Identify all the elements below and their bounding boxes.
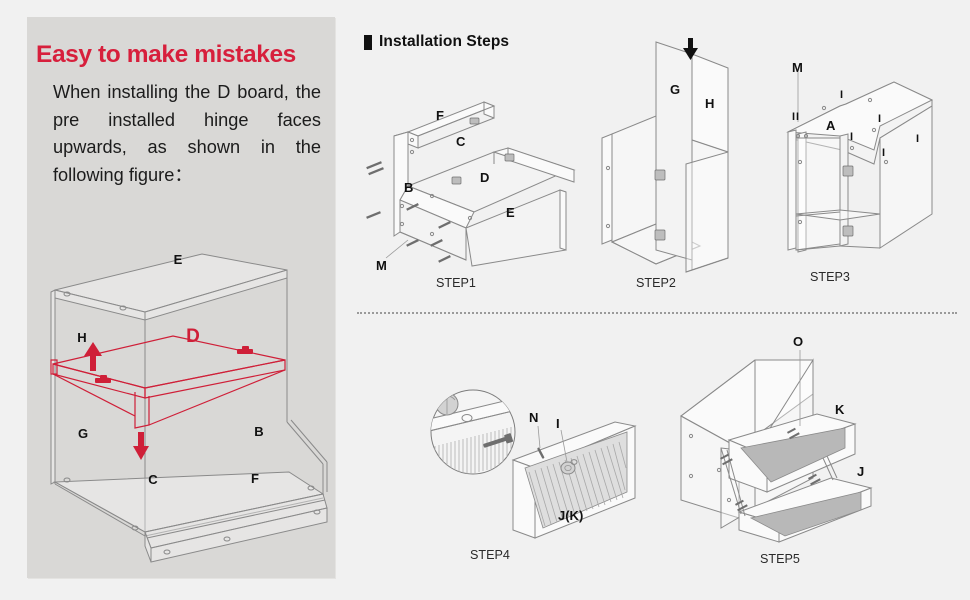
part-label-B: B [254,424,263,439]
mistake-diagram: E H D G B C F [27,232,335,578]
step1-caption: STEP1 [436,276,476,290]
step2-figure: G H [600,28,780,278]
step4-caption: STEP4 [470,548,510,562]
step5-caption: STEP5 [760,552,800,566]
part-label-I: I [882,147,885,159]
part-label-O: O [793,334,803,349]
part-label-F: F [436,108,444,123]
part-label-G: G [670,82,680,97]
part-label-I: I [796,111,799,123]
part-label-G: G [78,426,88,441]
part-label-I: I [840,89,843,101]
part-label-E: E [174,252,183,267]
instruction-sheet: Easy to make mistakes When installing th… [0,0,970,600]
magnified-circle-detail [425,390,517,482]
step2-caption: STEP2 [636,276,676,290]
part-label-I: I [792,111,795,123]
arrow-down-icon [133,432,149,460]
part-label-E: E [506,205,515,220]
part-label-B: B [404,180,413,195]
part-label-D: D [480,170,489,185]
step4-figure: N I J(K) [425,380,655,540]
part-label-I: I [878,113,881,125]
part-label-M: M [376,258,387,273]
easy-to-make-mistakes-panel: Easy to make mistakes When installing th… [27,17,335,578]
square-bullet-icon [364,35,372,50]
part-label-C: C [456,134,466,149]
step3-caption: STEP3 [810,270,850,284]
mistake-description-text: When installing the D board, the pre ins… [53,79,321,190]
part-label-K: K [835,402,845,417]
part-label-JK: J(K) [558,508,583,523]
part-label-I: I [556,416,560,431]
part-label-N: N [529,410,538,425]
installation-steps-label: Installation Steps [379,33,509,51]
step5-figure: O K J [665,328,940,543]
part-label-J: J [857,464,864,479]
dotted-divider [357,312,957,314]
part-label-H: H [705,96,714,111]
installation-steps-header: Installation Steps [364,33,509,51]
part-label-H: H [77,330,86,345]
part-label-A: A [826,118,836,133]
part-label-I: I [916,133,919,145]
step1-figure: F C B D E M [360,90,610,270]
part-label-F: F [251,471,259,486]
part-label-M: M [792,60,803,75]
step3-figure: I I I I I I I M A [782,58,967,278]
page-title: Easy to make mistakes [36,41,331,69]
part-label-D: D [186,326,200,347]
part-label-C: C [148,472,158,487]
part-label-I: I [850,131,853,143]
